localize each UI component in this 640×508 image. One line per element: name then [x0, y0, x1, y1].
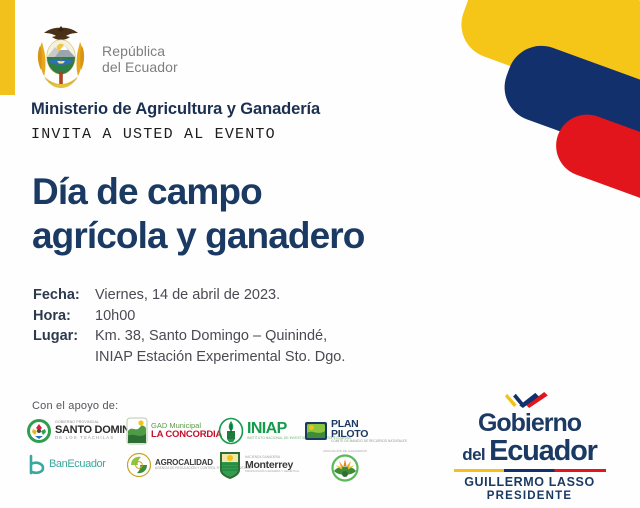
invitation-line: INVITA A USTED AL EVENTO	[31, 126, 276, 143]
detail-row-lugar: Lugar: Km. 38, Santo Domingo – Quinindé,	[33, 326, 345, 347]
deco-bar-blue	[495, 36, 640, 193]
support-logo-row-1: GOBIERNO PROVINCIAL SANTO DOMINGO DE LOS…	[26, 414, 386, 448]
logo-plan-piloto-text: PLAN PILOTO COMITÉ DE MANEJO DE RECURSOS…	[331, 419, 407, 443]
header-emblem-row: República del Ecuador	[30, 24, 178, 92]
logo-circular-green: ASOCIACIÓN DE GANADEROS	[304, 449, 386, 481]
detail-label-hora: Hora:	[33, 306, 95, 327]
detail-row-fecha: Fecha: Viernes, 14 de abril de 2023.	[33, 285, 345, 306]
logo-plan-piloto: PLAN PILOTO COMITÉ DE MANEJO DE RECURSOS…	[304, 415, 386, 447]
logo-banecuador: BanEcuador	[26, 449, 126, 481]
banecuador-b-icon	[26, 453, 46, 477]
president-name: GUILLERMO LASSO	[442, 475, 617, 489]
logo-monterrey-text: HACIENDA GANADERA Monterrey PRODUCCIÓN L…	[245, 456, 299, 473]
republic-label: República del Ecuador	[102, 40, 178, 75]
government-logo-tricolor-rule	[454, 469, 606, 472]
ecuador-coat-of-arms-icon	[30, 24, 92, 92]
plan-piloto-sub: COMITÉ DE MANEJO DE RECURSOS NATURALES	[331, 440, 407, 443]
deco-bar-yellow	[452, 0, 640, 141]
left-yellow-accent-bar	[0, 0, 15, 95]
support-logo-grid: GOBIERNO PROVINCIAL SANTO DOMINGO DE LOS…	[26, 414, 386, 482]
logo-iniap: INIAP INSTITUTO NACIONAL DE INVESTIGACIO…	[218, 415, 304, 447]
circular-logo-sub: ASOCIACIÓN DE GANADEROS	[323, 449, 367, 453]
title-line-1: Día de campo	[32, 170, 364, 214]
detail-value-fecha: Viernes, 14 de abril de 2023.	[95, 285, 280, 306]
sunburst-circle-icon	[330, 454, 360, 482]
detail-value-lugar-line2: INIAP Estación Experimental Sto. Dgo.	[95, 347, 345, 368]
ministry-name: Ministerio de Agricultura y Ganadería	[31, 100, 320, 119]
logo-monterrey: HACIENDA GANADERA Monterrey PRODUCCIÓN L…	[218, 449, 304, 481]
detail-label-lugar: Lugar:	[33, 326, 95, 347]
monterrey-sub: PRODUCCIÓN LECHERA Y GENÉTICA	[245, 470, 299, 473]
banecuador-name: BanEcuador	[49, 459, 106, 470]
event-poster: República del Ecuador Ministerio de Agri…	[0, 0, 640, 508]
page-title: Día de campo agrícola y ganadero	[32, 170, 364, 257]
president-role: PRESIDENTE	[442, 490, 617, 502]
detail-label-fecha: Fecha:	[33, 285, 95, 306]
la-concordia-name: LA CONCORDIA	[151, 430, 222, 440]
tricolor-flag-decoration	[410, 0, 640, 190]
shield-flower-icon	[26, 418, 52, 444]
agrocalidad-circle-icon	[126, 452, 152, 478]
deco-bar-red	[547, 106, 640, 243]
republic-line-2: del Ecuador	[102, 60, 178, 76]
detail-row-hora: Hora: 10h00	[33, 306, 345, 327]
event-details: Fecha: Viernes, 14 de abril de 2023. Hor…	[33, 285, 345, 368]
logo-la-concordia: GAD Municipal LA CONCORDIA	[126, 415, 218, 447]
government-logo-line2: del Ecuador	[442, 437, 617, 466]
government-logo: Gobierno del Ecuador GUILLERMO LASSO PRE…	[442, 392, 617, 502]
government-logo-del: del	[462, 446, 485, 463]
logo-santo-domingo: GOBIERNO PROVINCIAL SANTO DOMINGO DE LOS…	[26, 415, 126, 447]
logo-banecuador-text: BanEcuador	[49, 459, 106, 470]
landscape-badge-icon	[126, 417, 148, 445]
logo-la-concordia-text: GAD Municipal LA CONCORDIA	[151, 422, 222, 439]
support-label: Con el apoyo de:	[32, 400, 118, 412]
iniap-leaf-icon	[218, 417, 244, 445]
detail-value-hora: 10h00	[95, 306, 135, 327]
government-logo-ecuador: Ecuador	[489, 437, 597, 466]
detail-value-lugar: Km. 38, Santo Domingo – Quinindé,	[95, 326, 327, 347]
field-square-icon	[304, 419, 328, 443]
monterrey-shield-icon	[218, 450, 242, 480]
support-logo-row-2: BanEcuador AGROCALIDAD AGENCIA DE REGULA…	[26, 448, 386, 482]
title-line-2: agrícola y ganadero	[32, 214, 364, 258]
republic-line-1: República	[102, 44, 178, 60]
check-mark-tricolor-icon	[502, 392, 558, 408]
government-logo-line1: Gobierno	[442, 411, 617, 436]
logo-agrocalidad: AGROCALIDAD AGENCIA DE REGULACIÓN Y CONT…	[126, 449, 218, 481]
